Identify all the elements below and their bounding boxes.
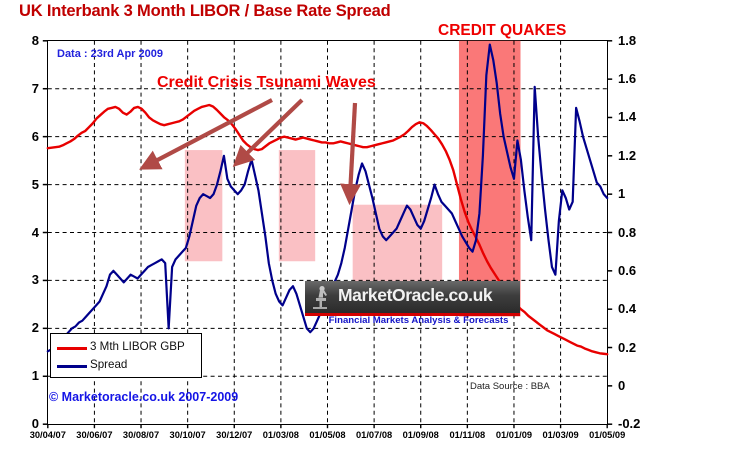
legend: 3 Mth LIBOR GBP Spread (50, 333, 202, 378)
y-left-tick-2: 2 (6, 320, 39, 335)
y-left-tick-1: 1 (6, 368, 39, 383)
watermark-tagline: Financial Markets Analysis & Forecasts (317, 315, 520, 326)
annotation-credit-quakes: CREDIT QUAKES (438, 22, 566, 40)
y-right-tick--0-2: -0.2 (618, 416, 640, 431)
highlight-wave-2 (279, 150, 315, 261)
y-left-tick-8: 8 (6, 33, 39, 48)
legend-label-libor: 3 Mth LIBOR GBP (90, 340, 185, 353)
thinker-figure-icon (309, 283, 335, 312)
copyright-label: © Marketoracle.co.uk 2007-2009 (49, 390, 238, 404)
watermark-site-name: MarketOracle.co.uk (338, 285, 492, 306)
y-right-tick-0-6: 0.6 (618, 263, 636, 278)
annotation-arrows (148, 100, 355, 195)
data-date-label: Data : 23rd Apr 2009 (57, 48, 163, 60)
y-right-tick-0-4: 0.4 (618, 301, 636, 316)
y-right-tick-1-4: 1.4 (618, 109, 636, 124)
legend-swatch-libor (57, 347, 87, 350)
y-right-tick-1-8: 1.8 (618, 33, 636, 48)
y-right-tick-0: 0 (618, 378, 625, 393)
y-left-tick-0: 0 (6, 416, 39, 431)
legend-label-spread: Spread (90, 358, 127, 371)
y-left-tick-5: 5 (6, 177, 39, 192)
y-right-tick-0-2: 0.2 (618, 340, 636, 355)
highlight-wave-1 (185, 150, 222, 261)
annotation-tsunami-waves: Credit Crisis Tsunami Waves (157, 74, 376, 92)
y-left-tick-6: 6 (6, 129, 39, 144)
y-right-tick-1-2: 1.2 (618, 148, 636, 163)
y-right-tick-1-6: 1.6 (618, 71, 636, 86)
arrow-wave-3 (350, 103, 355, 195)
watermark-marketoracle: MarketOracle.co.uk Financial Markets Ana… (305, 281, 520, 325)
legend-swatch-spread (57, 365, 87, 368)
highlight-credit-quakes (459, 41, 521, 317)
y-right-tick-1: 1 (618, 186, 625, 201)
y-right-tick-0-8: 0.8 (618, 225, 636, 240)
x-tick-12: 01/05/09 (574, 430, 640, 440)
highlight-wave-3 (353, 205, 443, 286)
y-left-tick-7: 7 (6, 81, 39, 96)
chart-screenshot: UK Interbank 3 Month LIBOR / Base Rate S… (0, 0, 736, 449)
y-left-tick-4: 4 (6, 225, 39, 240)
y-left-tick-3: 3 (6, 272, 39, 287)
data-source-label: Data Source : BBA (470, 381, 550, 392)
